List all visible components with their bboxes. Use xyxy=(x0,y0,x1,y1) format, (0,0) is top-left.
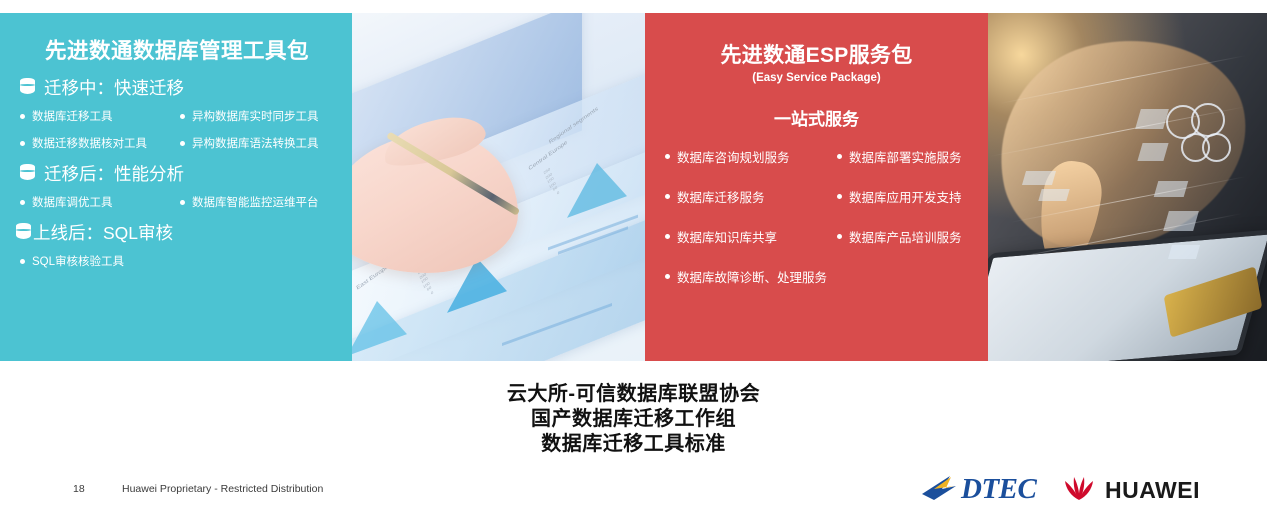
right-bullet-list: 数据库咨询规划服务 数据库部署实施服务 数据库迁移服务 数据库应用开发支持 数据… xyxy=(665,147,974,286)
list-item-label: 数据库迁移服务 xyxy=(677,187,765,206)
hud-bar-chart-icon xyxy=(1137,143,1168,161)
list-item-label: 数据库知识库共享 xyxy=(677,227,777,246)
banner-strip: 先进数通数据库管理工具包 迁移中：快速迁移 数据库迁移工具 异构数据库实时同步工… xyxy=(0,13,1267,361)
bullet-dot-icon xyxy=(20,141,25,146)
right-tablet-photo xyxy=(988,13,1267,361)
caption-line-3: 数据库迁移工具标准 xyxy=(0,432,1267,457)
list-item-label: SQL审核核验工具 xyxy=(32,253,124,269)
list-item-label: 数据迁移数据核对工具 xyxy=(32,135,147,151)
database-icon xyxy=(20,78,35,97)
hud-bar-chart-icon xyxy=(1168,245,1200,259)
list-item-label: 数据库迁移工具 xyxy=(32,108,113,124)
bullet-dot-icon xyxy=(665,154,670,159)
huawei-flower-icon xyxy=(1062,474,1096,507)
left-bullet-list-after-launch: SQL审核核验工具 xyxy=(20,253,342,269)
left-section-heading-after-launch: 上线后：SQL审核 xyxy=(16,220,342,245)
list-item-label: 异构数据库实时同步工具 xyxy=(192,108,319,124)
left-section-heading-label: 迁移中：快速迁移 xyxy=(44,75,184,100)
huawei-wordmark: HUAWEI xyxy=(1105,479,1200,502)
huawei-logo: HUAWEI xyxy=(1062,474,1200,507)
list-item: 数据库应用开发支持 xyxy=(837,187,974,206)
bullet-dot-icon xyxy=(665,274,670,279)
list-item-label: 数据库部署实施服务 xyxy=(849,147,962,166)
bullet-dot-icon xyxy=(20,114,25,119)
list-item: 数据库故障诊断、处理服务 xyxy=(665,267,974,286)
list-item-label: 数据库调优工具 xyxy=(32,194,113,210)
list-item: 数据库产品培训服务 xyxy=(837,227,974,246)
list-item: 数据库知识库共享 xyxy=(665,227,837,246)
left-section-heading-after-migration: 迁移后：性能分析 xyxy=(20,161,342,186)
list-item: 数据库咨询规划服务 xyxy=(665,147,837,166)
hud-ring-icon xyxy=(1202,133,1231,162)
list-item: 数据库智能监控运维平台 xyxy=(180,194,342,210)
list-item-label: 数据库产品培训服务 xyxy=(849,227,962,246)
right-red-panel: 先进数通ESP服务包 (Easy Service Package) 一站式服务 … xyxy=(645,13,988,361)
bullet-dot-icon xyxy=(180,141,185,146)
dtec-arrow-icon xyxy=(920,472,960,507)
list-item-label: 数据库应用开发支持 xyxy=(849,187,962,206)
bullet-dot-icon xyxy=(665,234,670,239)
list-item: 异构数据库实时同步工具 xyxy=(180,108,342,124)
caption-line-2: 国产数据库迁移工作组 xyxy=(0,407,1267,432)
list-item-label: 数据库故障诊断、处理服务 xyxy=(677,267,827,286)
right-panel-subtitle: (Easy Service Package) xyxy=(659,72,974,84)
bullet-dot-icon xyxy=(837,234,842,239)
left-section-heading-migrating: 迁移中：快速迁移 xyxy=(20,75,342,100)
list-item-label: 数据库咨询规划服务 xyxy=(677,147,790,166)
dtec-logo: DTEC xyxy=(920,472,1036,507)
list-item-label: 数据库智能监控运维平台 xyxy=(192,194,319,210)
left-section-heading-label: 迁移后：性能分析 xyxy=(44,161,184,186)
left-teal-panel: 先进数通数据库管理工具包 迁移中：快速迁移 数据库迁移工具 异构数据库实时同步工… xyxy=(0,13,352,361)
hud-bar-chart-icon xyxy=(1038,189,1069,201)
bullet-dot-icon xyxy=(837,154,842,159)
list-item: 数据库部署实施服务 xyxy=(837,147,974,166)
hud-ring-icon xyxy=(1191,103,1225,137)
dtec-wordmark: DTEC xyxy=(961,475,1036,504)
left-section-heading-label: 上线后：SQL审核 xyxy=(33,220,173,245)
list-item: SQL审核核验工具 xyxy=(20,253,342,269)
bullet-dot-icon xyxy=(180,114,185,119)
caption-block: 云大所-可信数据库联盟协会 国产数据库迁移工作组 数据库迁移工具标准 xyxy=(0,382,1267,457)
middle-analytics-photo: Regional segments Central Europe West Eu… xyxy=(352,13,645,361)
confidentiality-note: Huawei Proprietary - Restricted Distribu… xyxy=(122,483,323,495)
left-bullet-list-after-migration: 数据库调优工具 数据库智能监控运维平台 xyxy=(20,194,342,210)
hud-bar-chart-icon xyxy=(1022,171,1056,185)
database-icon xyxy=(20,164,35,183)
list-item: 数据库迁移服务 xyxy=(665,187,837,206)
bullet-dot-icon xyxy=(20,200,25,205)
list-item-label: 异构数据库语法转换工具 xyxy=(192,135,319,151)
right-panel-section-heading: 一站式服务 xyxy=(659,105,974,130)
bullet-dot-icon xyxy=(837,194,842,199)
bullet-dot-icon xyxy=(665,194,670,199)
caption-line-1: 云大所-可信数据库联盟协会 xyxy=(0,382,1267,407)
list-item: 数据库迁移工具 xyxy=(20,108,180,124)
bullet-dot-icon xyxy=(180,200,185,205)
list-item: 数据迁移数据核对工具 xyxy=(20,135,180,151)
left-bullet-list-migrating: 数据库迁移工具 异构数据库实时同步工具 数据迁移数据核对工具 异构数据库语法转换… xyxy=(20,108,342,151)
left-panel-title: 先进数通数据库管理工具包 xyxy=(12,34,342,65)
bullet-dot-icon xyxy=(20,259,25,264)
right-panel-title: 先进数通ESP服务包 xyxy=(659,39,974,69)
page-number: 18 xyxy=(73,483,85,495)
database-icon xyxy=(16,223,31,242)
list-item: 数据库调优工具 xyxy=(20,194,180,210)
list-item: 异构数据库语法转换工具 xyxy=(180,135,342,151)
